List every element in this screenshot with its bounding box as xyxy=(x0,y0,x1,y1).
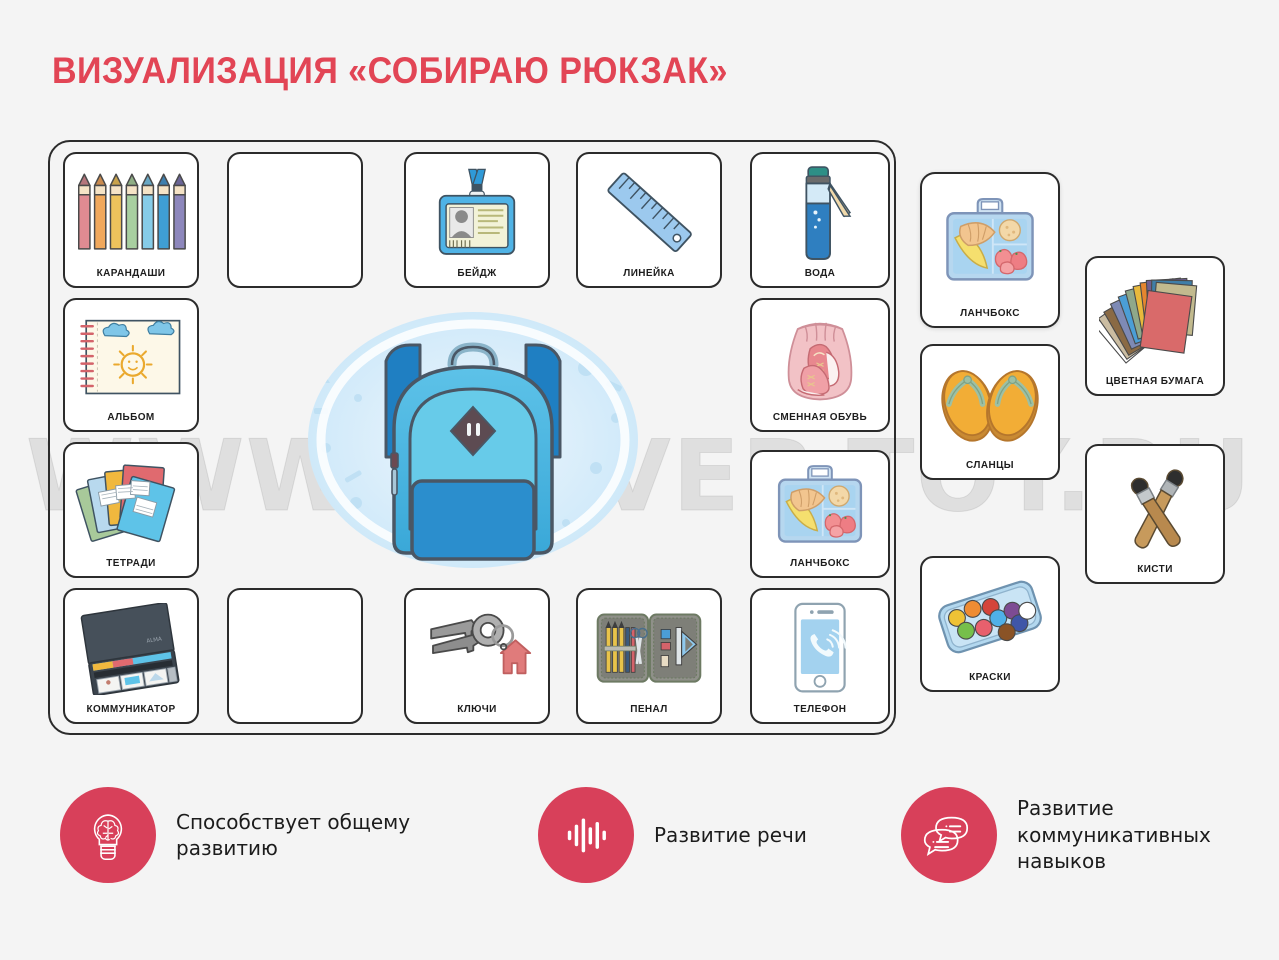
card-label: КОММУНИКАТОР xyxy=(83,702,178,722)
benefit-label: Развитие речи xyxy=(654,822,807,848)
brain-bulb-icon xyxy=(60,787,156,883)
smartphone-icon xyxy=(752,590,888,702)
benefit-speech-development: Развитие речи xyxy=(538,787,807,883)
ruler-icon xyxy=(578,154,720,266)
card-empty-slot-1[interactable] xyxy=(227,152,363,288)
card-communicator[interactable]: ALMA КОММУНИКАТОР xyxy=(63,588,199,724)
card-label: ВОДА xyxy=(802,266,839,286)
card-label: КЛЮЧИ xyxy=(454,702,500,722)
flip-flops-icon xyxy=(922,346,1058,458)
card-label: ЦВЕТНАЯ БУМАГА xyxy=(1103,374,1207,394)
card-colored-paper[interactable]: ЦВЕТНАЯ БУМАГА xyxy=(1085,256,1225,396)
card-label: КИСТИ xyxy=(1134,562,1176,582)
card-label: ПЕНАЛ xyxy=(627,702,670,722)
card-brushes[interactable]: КИСТИ xyxy=(1085,444,1225,584)
card-flip-flops[interactable]: СЛАНЦЫ xyxy=(920,344,1060,480)
card-album[interactable]: АЛЬБОМ xyxy=(63,298,199,432)
card-label: СМЕННАЯ ОБУВЬ xyxy=(770,410,870,430)
card-label: ТЕЛЕФОН xyxy=(791,702,850,722)
card-label: ЛАНЧБОКС xyxy=(787,556,853,576)
shoe-bag-icon xyxy=(752,300,888,410)
speech-bubbles-icon xyxy=(901,787,997,883)
card-notebooks[interactable]: ТЕТРАДИ xyxy=(63,442,199,578)
benefit-label: Способствует общему развитию xyxy=(176,809,436,862)
paint-palette-icon xyxy=(922,558,1058,670)
colored-pencils-icon xyxy=(65,154,197,266)
card-label xyxy=(292,216,298,225)
card-label: СЛАНЦЫ xyxy=(963,458,1017,478)
card-label: ЛАНЧБОКС xyxy=(957,306,1023,326)
benefit-general-development: Способствует общему развитию xyxy=(60,787,436,883)
card-label: ТЕТРАДИ xyxy=(103,556,158,576)
id-badge-icon xyxy=(406,154,548,266)
card-ruler[interactable]: ЛИНЕЙКА xyxy=(576,152,722,288)
benefit-label: Развитие коммуникативных навыков xyxy=(1017,795,1277,874)
lunchbox-icon xyxy=(922,174,1058,306)
colored-paper-icon xyxy=(1087,258,1223,374)
sketch-album-icon xyxy=(65,300,197,410)
card-label xyxy=(292,652,298,661)
card-keys[interactable]: КЛЮЧИ xyxy=(404,588,550,724)
card-paints[interactable]: КРАСКИ xyxy=(920,556,1060,692)
card-change-shoes[interactable]: СМЕННАЯ ОБУВЬ xyxy=(750,298,890,432)
card-lunchbox-side[interactable]: ЛАНЧБОКС xyxy=(920,172,1060,328)
benefit-communication-skills: Развитие коммуникативных навыков xyxy=(901,787,1277,883)
poster-root: ВИЗУАЛИЗАЦИЯ «СОБИРАЮ РЮКЗАК» WWW.CLEVER… xyxy=(0,0,1279,960)
card-badge[interactable]: БЕЙДЖ xyxy=(404,152,550,288)
lunchbox-icon xyxy=(752,452,888,556)
card-water[interactable]: ВОДА xyxy=(750,152,890,288)
pencil-case-icon xyxy=(578,590,720,702)
card-label: БЕЙДЖ xyxy=(454,266,499,286)
notebooks-icon xyxy=(65,444,197,556)
card-pencils[interactable]: КАРАНДАШИ xyxy=(63,152,199,288)
card-label: ЛИНЕЙКА xyxy=(620,266,677,286)
card-label: АЛЬБОМ xyxy=(104,410,157,430)
card-empty-slot-2[interactable] xyxy=(227,588,363,724)
communicator-icon: ALMA xyxy=(65,590,197,702)
card-phone[interactable]: ТЕЛЕФОН xyxy=(750,588,890,724)
keys-icon xyxy=(406,590,548,702)
page-title: ВИЗУАЛИЗАЦИЯ «СОБИРАЮ РЮКЗАК» xyxy=(52,50,728,92)
center-backpack-illustration xyxy=(286,288,661,593)
card-label: КАРАНДАШИ xyxy=(94,266,169,286)
sound-wave-icon xyxy=(538,787,634,883)
paint-brushes-icon xyxy=(1087,446,1223,562)
card-label: КРАСКИ xyxy=(966,670,1014,690)
card-lunchbox-inner[interactable]: ЛАНЧБОКС xyxy=(750,450,890,578)
water-bottle-icon xyxy=(752,154,888,266)
card-pencil-case[interactable]: ПЕНАЛ xyxy=(576,588,722,724)
